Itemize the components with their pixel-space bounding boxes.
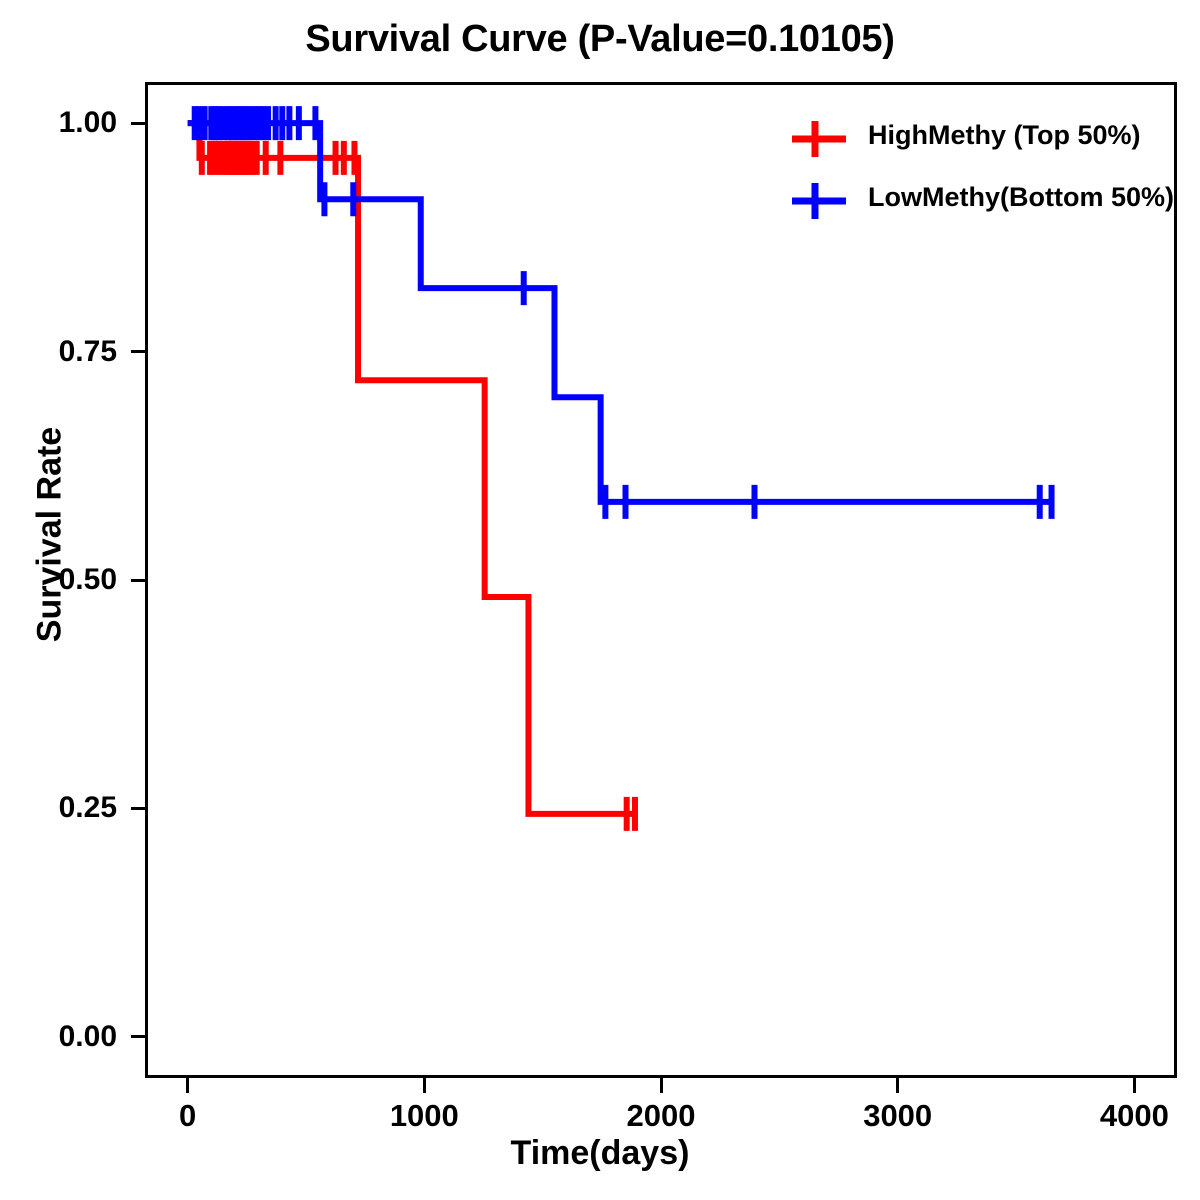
x-tick-label: 3000 — [828, 1098, 968, 1134]
plus-marker-icon-blue — [790, 180, 848, 222]
y-tick-label: 0.75 — [25, 335, 117, 369]
y-tick-mark — [131, 807, 145, 810]
x-tick-mark — [186, 1078, 189, 1093]
x-tick-mark — [660, 1078, 663, 1093]
legend-item-highmethy[interactable]: HighMethy (Top 50%) — [790, 108, 1160, 170]
x-axis-title: Time(days) — [0, 1134, 1200, 1173]
y-tick-mark — [131, 122, 145, 125]
legend-label-highmethy: HighMethy (Top 50%) — [868, 120, 1141, 151]
y-tick-label: 1.00 — [25, 106, 117, 140]
y-tick-mark — [131, 579, 145, 582]
y-tick-label: 0.00 — [25, 1020, 117, 1054]
legend: HighMethy (Top 50%) LowMethy(Bottom 50%) — [790, 108, 1160, 232]
series-highmethy-top-50- — [188, 123, 635, 831]
plus-marker-icon-red — [790, 118, 848, 160]
x-tick-mark — [896, 1078, 899, 1093]
survival-curve-figure: Survival Curve (P-Value=0.10105) 0.000.2… — [0, 0, 1200, 1200]
legend-label-lowmethy: LowMethy(Bottom 50%) — [868, 182, 1174, 213]
x-tick-label: 4000 — [1064, 1098, 1200, 1134]
x-tick-mark — [423, 1078, 426, 1093]
x-tick-label: 0 — [118, 1098, 258, 1134]
step-line — [188, 123, 635, 814]
y-axis: 0.000.250.500.751.00 — [0, 0, 145, 1200]
legend-item-lowmethy[interactable]: LowMethy(Bottom 50%) — [790, 170, 1160, 232]
y-axis-title: Survival Rate — [31, 385, 70, 685]
y-tick-mark — [131, 1035, 145, 1038]
y-tick-label: 0.25 — [25, 791, 117, 825]
x-tick-label: 2000 — [591, 1098, 731, 1134]
x-tick-mark — [1133, 1078, 1136, 1093]
chart-title: Survival Curve (P-Value=0.10105) — [0, 18, 1200, 61]
y-tick-mark — [131, 350, 145, 353]
x-tick-label: 1000 — [354, 1098, 494, 1134]
